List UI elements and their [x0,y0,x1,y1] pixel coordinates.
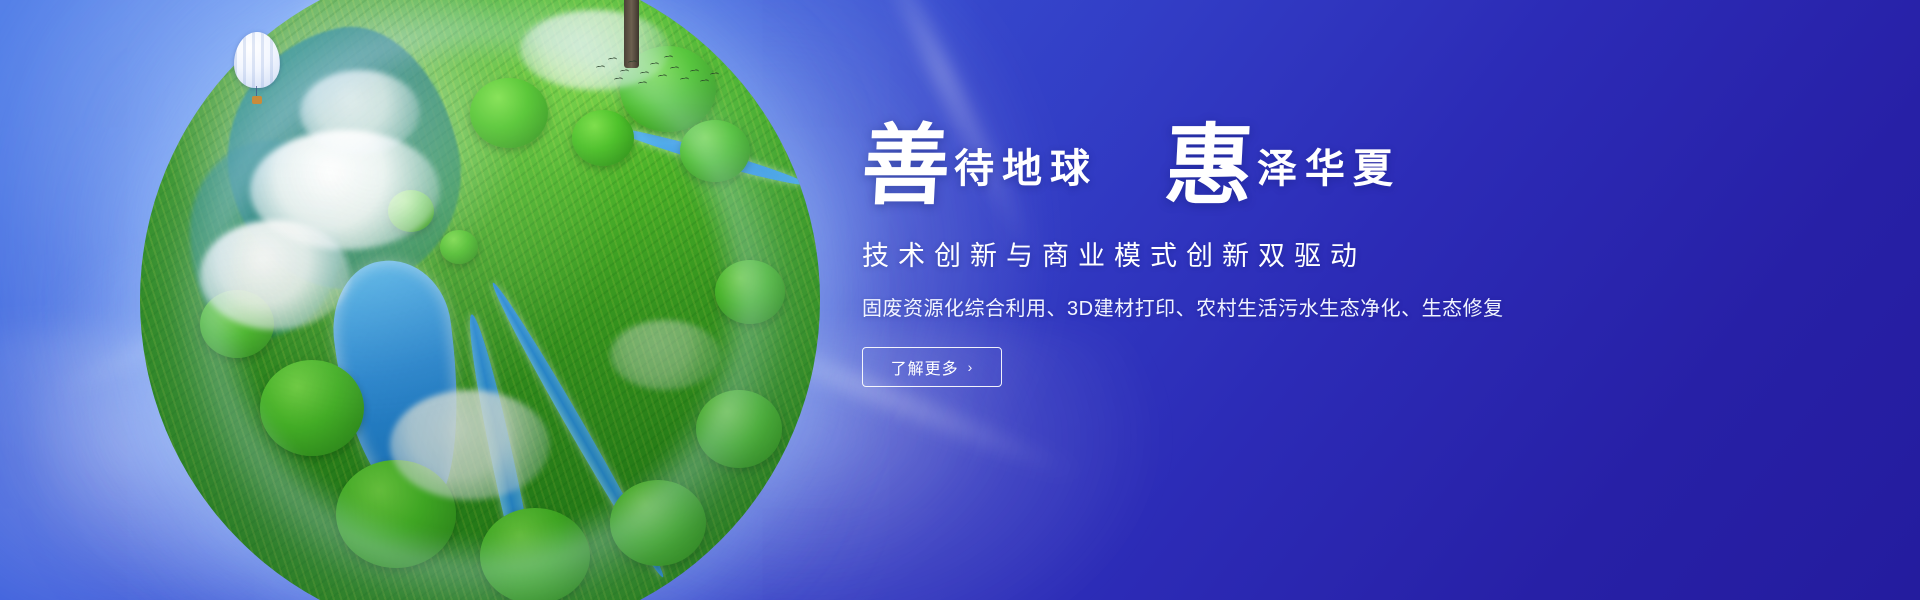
learn-more-label: 了解更多 [891,355,959,379]
page-title: 善待地球 惠泽华夏 [862,120,1622,212]
headline-text-daidiqiu: 待地球 [954,136,1098,194]
lake-shore-icon [310,240,491,534]
flock-of-birds-icon [594,54,724,86]
learn-more-button[interactable]: 了解更多 › [862,347,1002,387]
balloon-basket-icon [252,96,262,104]
forest-blob-icon [260,360,364,456]
hero-description: 固废资源化综合利用、3D建材打印、农村生活污水生态净化、生态修复 [862,292,1622,321]
hero-banner: 善待地球 惠泽华夏 技术创新与商业模式创新双驱动 固废资源化综合利用、3D建材打… [0,0,1920,600]
headline-char-shan: 善 [860,126,952,205]
forest-blob-icon [572,110,634,166]
river-icon [486,279,670,581]
cloud-icon [200,220,350,330]
balloon-envelope-icon [234,32,280,88]
headline-text-zehuaxia: 泽华夏 [1257,136,1401,194]
forest-blob-icon [680,120,750,182]
forest-blob-icon [610,480,706,566]
cloud-icon [250,130,440,250]
forest-blob-icon [336,460,456,568]
forest-blob-icon [715,260,785,324]
mountain-ridge-icon [190,140,340,340]
chevron-right-icon: › [968,359,974,375]
cloud-icon [390,390,550,500]
hero-subtitle: 技术创新与商业模式创新双驱动 [862,234,1622,273]
forest-blob-icon [440,230,478,264]
cloud-icon [300,70,420,154]
hot-air-balloon-icon [234,32,280,110]
river-icon [461,311,545,600]
headline-char-hui: 惠 [1163,126,1255,205]
forest-blob-icon [470,78,548,148]
cloud-icon [610,320,720,390]
forest-blob-icon [388,190,434,232]
hero-copy: 善待地球 惠泽华夏 技术创新与商业模式创新双驱动 固废资源化综合利用、3D建材打… [862,120,1622,387]
headline-phrase-2: 惠泽华夏 [1165,120,1401,202]
forest-blob-icon [200,290,274,358]
forest-blob-icon [696,390,782,468]
lake-icon [325,254,473,517]
forest-blob-icon [480,508,590,600]
headline-phrase-1: 善待地球 [862,120,1098,202]
river-icon [612,123,808,191]
